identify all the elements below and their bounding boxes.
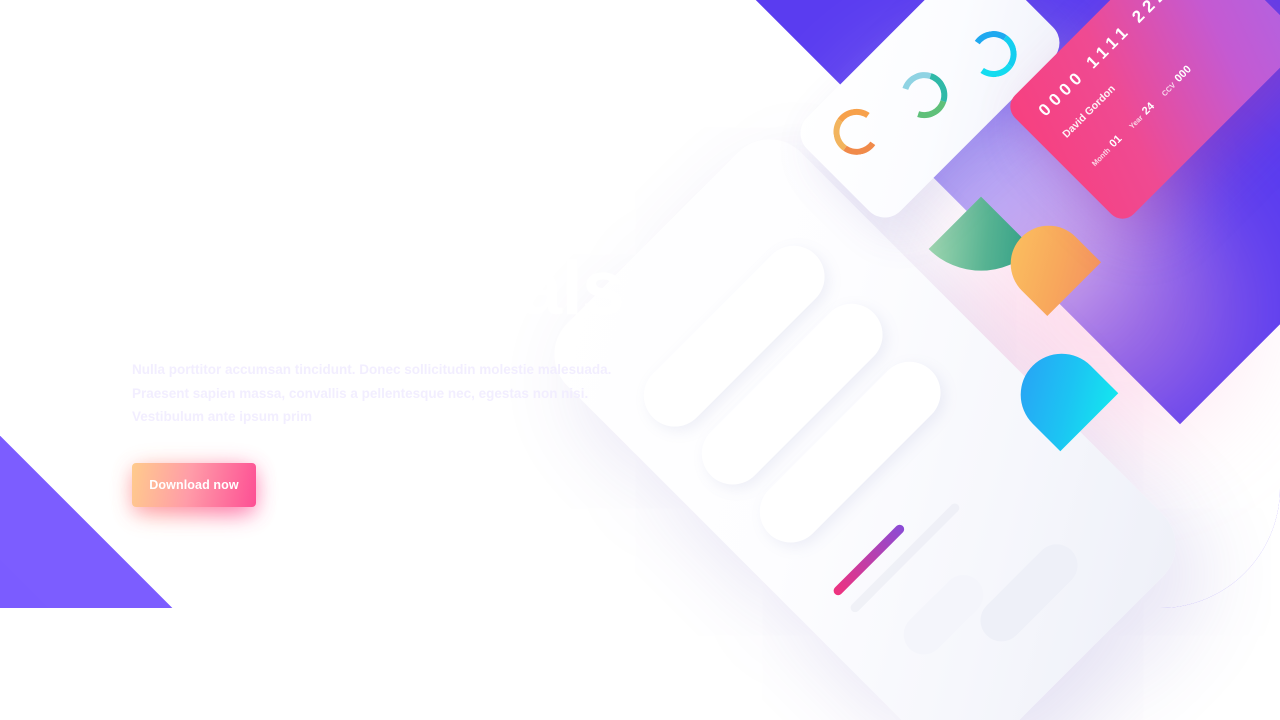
hero-page: 0000 1111 2222 3333 David Gordon Month01… [0,0,1280,720]
page-title: Divi App for Professionals [132,148,652,336]
hero-copy: Divi App for Professionals Nulla porttit… [132,148,652,507]
download-now-button[interactable]: Download now [132,463,256,507]
cta-wrapper: Download now [132,463,256,507]
hero-subcopy: Nulla porttitor accumsan tincidunt. Done… [132,358,622,429]
